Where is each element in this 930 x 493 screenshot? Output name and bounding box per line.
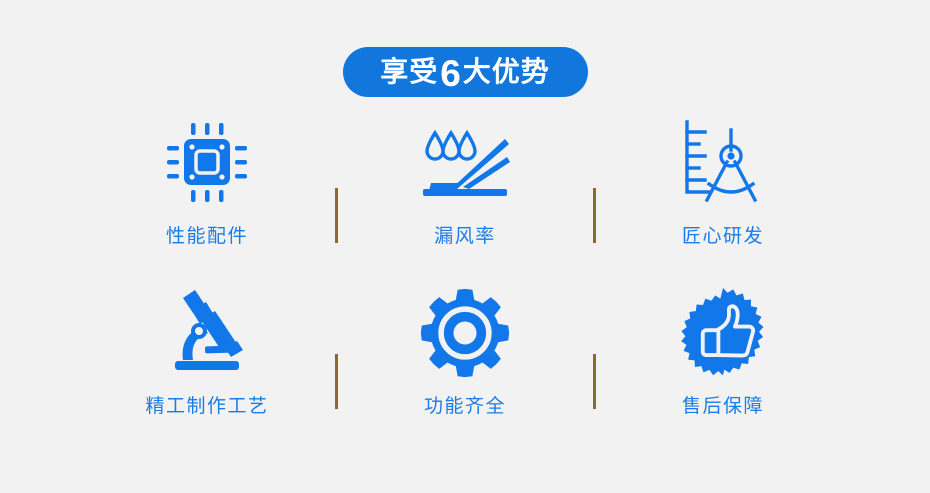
microscope-icon: [161, 282, 253, 384]
banner-text-after: 大优势: [463, 58, 550, 86]
title-banner-container: 享受6大优势: [0, 47, 930, 97]
feature-item-air-leakage-rate[interactable]: 漏风率: [338, 112, 593, 246]
thumbs-up-badge-icon: [677, 282, 769, 384]
feature-item-after-sales-guarantee[interactable]: 售后保障: [596, 282, 851, 416]
feature-item-craftsmanship-rnd[interactable]: 匠心研发: [596, 112, 851, 246]
ruler-compass-icon: [679, 112, 767, 214]
banner-text-before: 享受: [380, 58, 438, 86]
feature-item-precision-craft[interactable]: 精工制作工艺: [80, 282, 335, 416]
feature-row-top: 性能配件: [0, 112, 930, 282]
feature-row-bottom: 精工制作工艺 功能齐全: [0, 282, 930, 452]
feature-item-full-featured[interactable]: 功能齐全: [338, 282, 593, 416]
feature-label: 精工制作工艺: [145, 397, 268, 416]
feature-label: 性能配件: [166, 227, 248, 246]
feature-grid: 性能配件: [0, 112, 930, 452]
banner-number: 6: [438, 55, 463, 92]
water-repellent-icon: [417, 112, 513, 214]
feature-label: 匠心研发: [682, 227, 764, 246]
cpu-chip-icon: [162, 112, 252, 214]
feature-label: 功能齐全: [424, 397, 506, 416]
feature-item-performance-parts[interactable]: 性能配件: [80, 112, 335, 246]
feature-label: 售后保障: [682, 397, 764, 416]
title-banner: 享受6大优势: [343, 47, 588, 97]
promo-banner-page: 享受6大优势: [0, 0, 930, 493]
gear-icon: [419, 282, 511, 384]
feature-label: 漏风率: [434, 227, 496, 246]
